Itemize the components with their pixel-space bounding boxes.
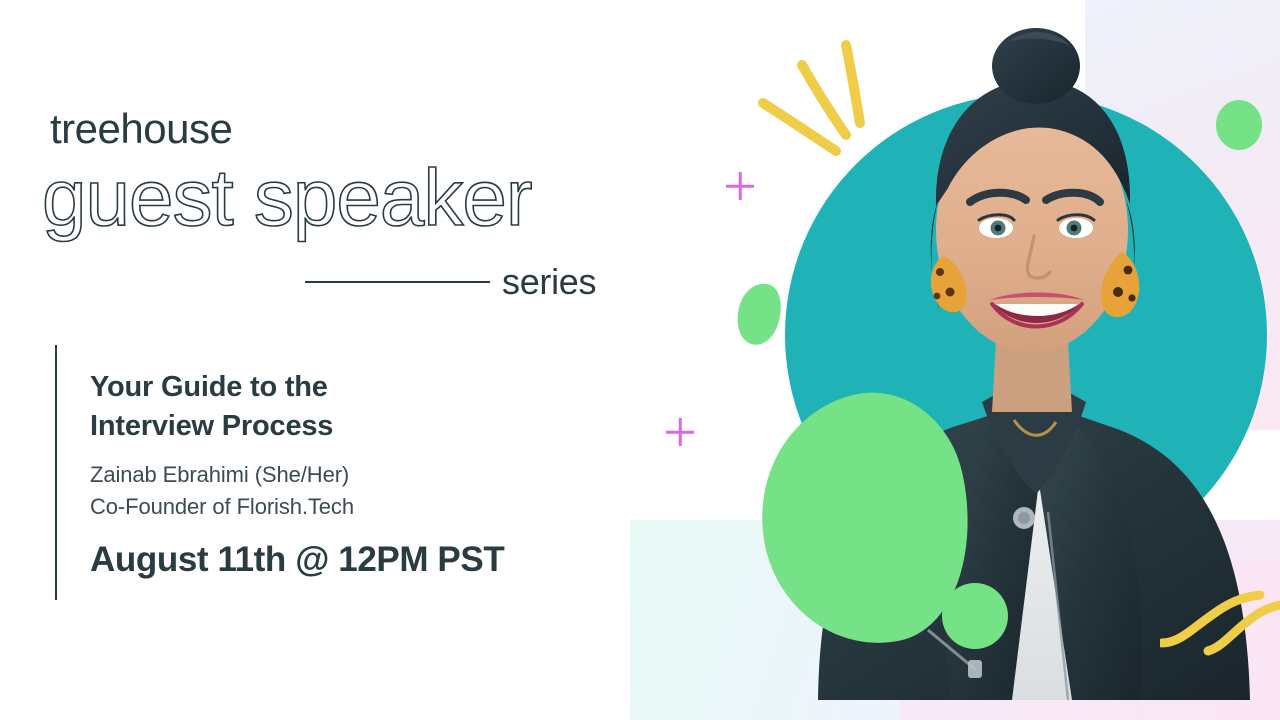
session-datetime: August 11th @ 12PM PST [90, 539, 610, 581]
plus-icon-lower [666, 418, 694, 446]
session-title: Your Guide to the Interview Process [90, 368, 610, 445]
green-dot-shape [942, 583, 1008, 649]
vertical-accent-rule [55, 345, 57, 600]
plus-icon-upper [726, 172, 754, 200]
series-divider-rule [305, 281, 490, 283]
series-word: series [502, 264, 596, 300]
series-row: series [305, 258, 625, 306]
session-info-block: Your Guide to the Interview Process Zain… [90, 368, 610, 581]
headline-outline-text: guest speaker [42, 158, 532, 238]
speaker-role: Co-Founder of Florish.Tech [90, 491, 610, 523]
yellow-squiggle-strokes [1160, 575, 1280, 685]
brand-wordmark: treehouse [50, 108, 232, 150]
promo-slide: treehouse guest speaker series Your Guid… [0, 0, 1280, 720]
green-blob-small-shape [731, 279, 787, 349]
speaker-name: Zainab Ebrahimi (She/Her) [90, 459, 610, 491]
yellow-spark-strokes [740, 35, 920, 195]
